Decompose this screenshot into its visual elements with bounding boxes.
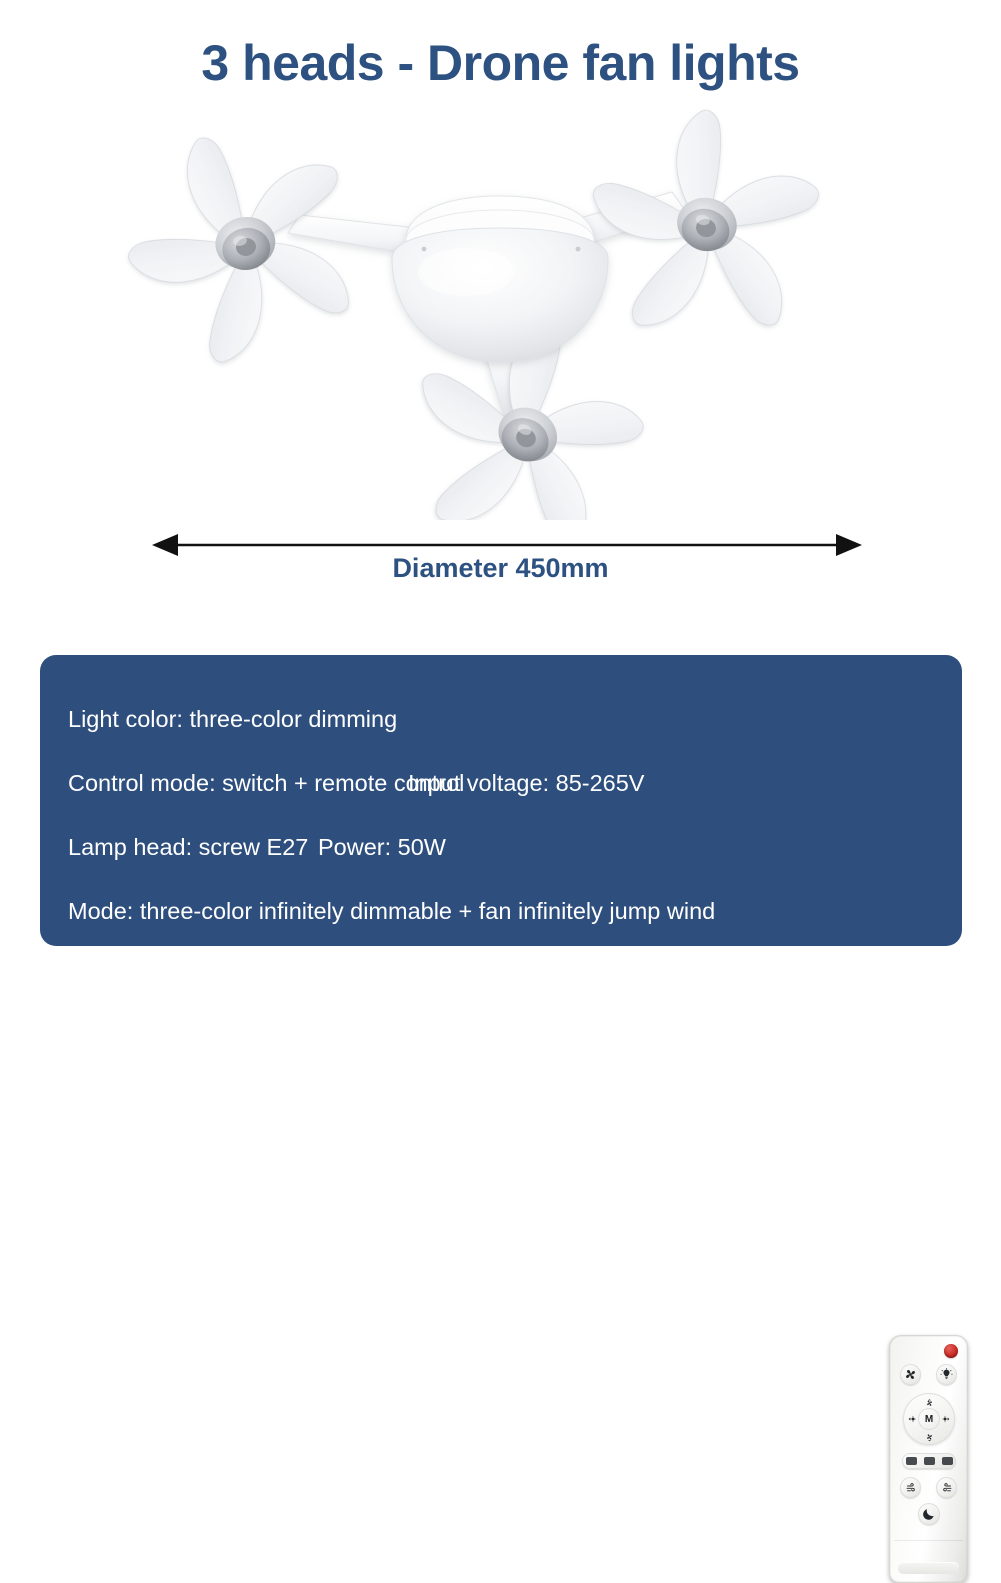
dpad-left-button[interactable] xyxy=(906,1414,917,1424)
spec-lamp-head: Lamp head: screw E27 xyxy=(68,834,318,861)
preset-button-row xyxy=(902,1453,956,1469)
bulb-icon xyxy=(940,1368,953,1381)
fan-down-icon xyxy=(924,1434,935,1442)
dpad-right-button[interactable] xyxy=(941,1414,952,1424)
direction-pad: M xyxy=(903,1393,955,1445)
remote-control: M xyxy=(889,1335,968,1583)
spec-row: Lamp head: screw E27 Power: 50W xyxy=(68,815,858,879)
forward-button[interactable] xyxy=(936,1477,957,1498)
page-title: 3 heads - Drone fan lights xyxy=(0,34,1001,92)
light-button[interactable] xyxy=(936,1364,957,1385)
brightness-up-icon xyxy=(942,1415,951,1423)
preset-2-button[interactable] xyxy=(924,1457,935,1465)
spec-mode: Mode: three-color infinitely dimmable + … xyxy=(68,898,715,925)
wind-right-icon xyxy=(941,1483,953,1493)
spec-power: Power: 50W xyxy=(318,834,446,861)
product-image xyxy=(0,100,1001,520)
spec-control-mode: Control mode: switch + remote control xyxy=(68,770,408,797)
spec-row: Control mode: switch + remote control In… xyxy=(68,751,858,815)
dpad-down-button[interactable] xyxy=(921,1433,937,1442)
preset-3-button[interactable] xyxy=(942,1457,953,1465)
fan-icon xyxy=(904,1368,917,1381)
spec-input-voltage: Input voltage: 85-265V xyxy=(408,770,644,797)
sleep-button[interactable] xyxy=(918,1503,940,1525)
fan-head-left xyxy=(106,115,365,382)
remote-seam xyxy=(894,1540,963,1541)
reverse-button[interactable] xyxy=(900,1477,921,1498)
wind-left-icon xyxy=(905,1483,917,1493)
spec-light-color: Light color: three-color dimming xyxy=(68,706,397,733)
ceiling-fan-illustration xyxy=(0,100,1001,520)
center-housing-and-dome xyxy=(392,196,608,362)
brightness-down-icon xyxy=(907,1415,916,1423)
power-button[interactable] xyxy=(944,1344,958,1358)
moon-icon xyxy=(922,1507,936,1521)
preset-1-button[interactable] xyxy=(906,1457,917,1465)
dpad-up-button[interactable] xyxy=(921,1397,937,1406)
spec-row: Light color: three-color dimming xyxy=(68,687,858,751)
mode-button[interactable]: M xyxy=(918,1408,940,1430)
spec-list: Light color: three-color dimming Control… xyxy=(68,687,858,943)
spec-row: Mode: three-color infinitely dimmable + … xyxy=(68,879,858,943)
remote-base xyxy=(898,1562,959,1574)
diameter-label: Diameter 450mm xyxy=(0,553,1001,584)
fan-speed-button[interactable] xyxy=(900,1364,921,1385)
fan-up-icon xyxy=(924,1398,935,1406)
specification-panel: Light color: three-color dimming Control… xyxy=(40,655,962,946)
